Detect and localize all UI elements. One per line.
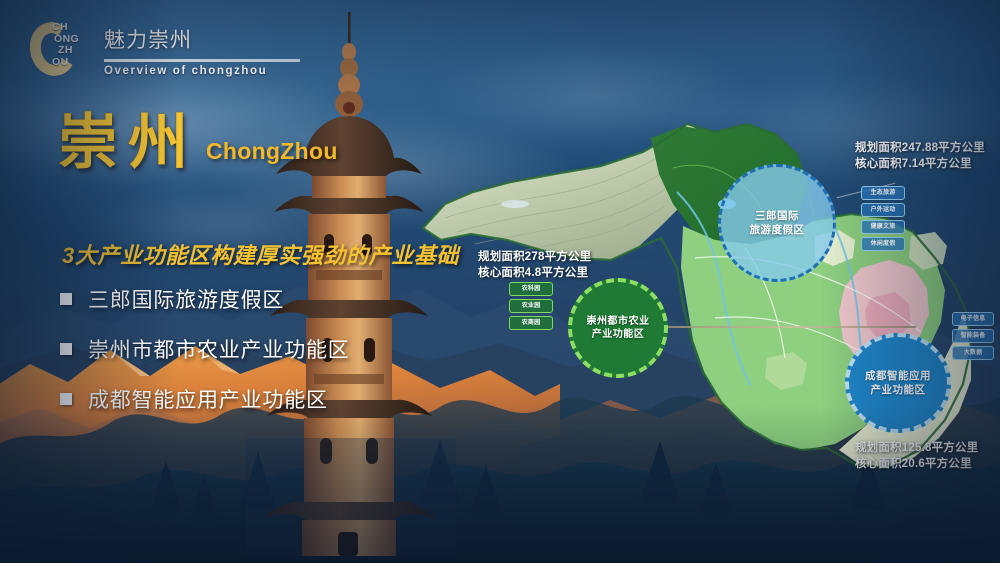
tag-group-tourism: 生态旅游 户外运动 健康文旅 休闲度假 <box>861 186 905 251</box>
hero-title-en: ChongZhou <box>206 138 338 165</box>
square-bullet-icon <box>60 293 72 305</box>
zone-name-line-1: 崇州都市农业 <box>587 315 650 328</box>
tag-item: 休闲度假 <box>861 237 905 251</box>
zone-badge-smart-application: 成都智能应用 产业功能区 <box>845 333 951 433</box>
core-area-text: 核心面积7.14平方公里 <box>855 156 985 172</box>
square-bullet-icon <box>60 343 72 355</box>
logo-stacked-text: CH ONG ZH OU <box>52 22 79 68</box>
industry-zone-list: 三郎国际旅游度假区 崇州市都市农业产业功能区 成都智能应用产业功能区 <box>60 284 390 434</box>
tag-item: 农商园 <box>509 316 553 330</box>
tag-group-agriculture: 农科园 农业园 农商园 <box>509 282 553 330</box>
square-bullet-icon <box>60 393 72 405</box>
core-area-text: 核心面积20.6平方公里 <box>855 456 978 472</box>
header-title-en: Overview of chongzhou <box>104 65 300 77</box>
tag-item: 生态旅游 <box>861 186 905 200</box>
tag-item: 农业园 <box>509 299 553 313</box>
zone-name-line-1: 成都智能应用 <box>865 369 931 383</box>
zone-name-line-2: 产业功能区 <box>592 328 645 341</box>
list-item-label: 三郎国际旅游度假区 <box>88 284 284 314</box>
tag-item: 大数据 <box>952 346 994 360</box>
map-connector-line <box>666 326 916 328</box>
list-item: 崇州市都市农业产业功能区 <box>60 334 390 364</box>
tag-item: 智能装备 <box>952 329 994 343</box>
tag-item: 农科园 <box>509 282 553 296</box>
planned-area-text: 规划面积278平方公里 <box>478 249 591 265</box>
list-item: 三郎国际旅游度假区 <box>60 284 390 314</box>
zone-badge-agriculture: 崇州都市农业 产业功能区 <box>568 278 668 378</box>
planned-area-text: 规划面积125.8平方公里 <box>855 440 978 456</box>
zone-name-line-2: 产业功能区 <box>871 383 926 397</box>
chongzhou-crescent-logo-icon: CH ONG ZH OU <box>28 18 90 80</box>
tag-item: 电子信息 <box>952 312 994 326</box>
tag-group-smart-application: 电子信息 智能装备 大数据 <box>952 312 994 360</box>
annotation-tourism-area: 规划面积247.88平方公里 核心面积7.14平方公里 <box>855 140 985 172</box>
annotation-smart-area: 规划面积125.8平方公里 核心面积20.6平方公里 <box>855 440 978 472</box>
logo-line-1: CH <box>52 22 79 34</box>
list-item: 成都智能应用产业功能区 <box>60 384 390 414</box>
slide-header: CH ONG ZH OU 魅力崇州 Overview of chongzhou <box>28 14 300 84</box>
tag-item: 健康文旅 <box>861 220 905 234</box>
slide-canvas: CH ONG ZH OU 魅力崇州 Overview of chongzhou … <box>0 0 1000 563</box>
list-item-label: 崇州市都市农业产业功能区 <box>88 334 350 364</box>
header-divider <box>104 59 300 62</box>
header-titles: 魅力崇州 Overview of chongzhou <box>104 22 300 77</box>
zone-name-line-1: 三郎国际 <box>755 209 799 223</box>
core-area-text: 核心面积4.8平方公里 <box>478 265 591 281</box>
header-title-cn: 魅力崇州 <box>104 24 300 54</box>
zone-name-line-2: 旅游度假区 <box>750 223 805 237</box>
hero-title-cn: 崇州 <box>58 112 198 174</box>
logo-line-4: OU <box>52 57 79 69</box>
tag-item: 户外运动 <box>861 203 905 217</box>
zone-badge-tourism: 三郎国际 旅游度假区 <box>718 164 836 282</box>
list-item-label: 成都智能应用产业功能区 <box>88 384 328 414</box>
hero-title: 崇州 ChongZhou <box>58 112 338 174</box>
logo-line-3: ZH <box>58 45 79 57</box>
planned-area-text: 规划面积247.88平方公里 <box>855 140 985 156</box>
hero-subtitle: 3大产业功能区构建厚实强劲的产业基础 <box>62 238 459 270</box>
annotation-agriculture-area: 规划面积278平方公里 核心面积4.8平方公里 <box>478 249 591 281</box>
